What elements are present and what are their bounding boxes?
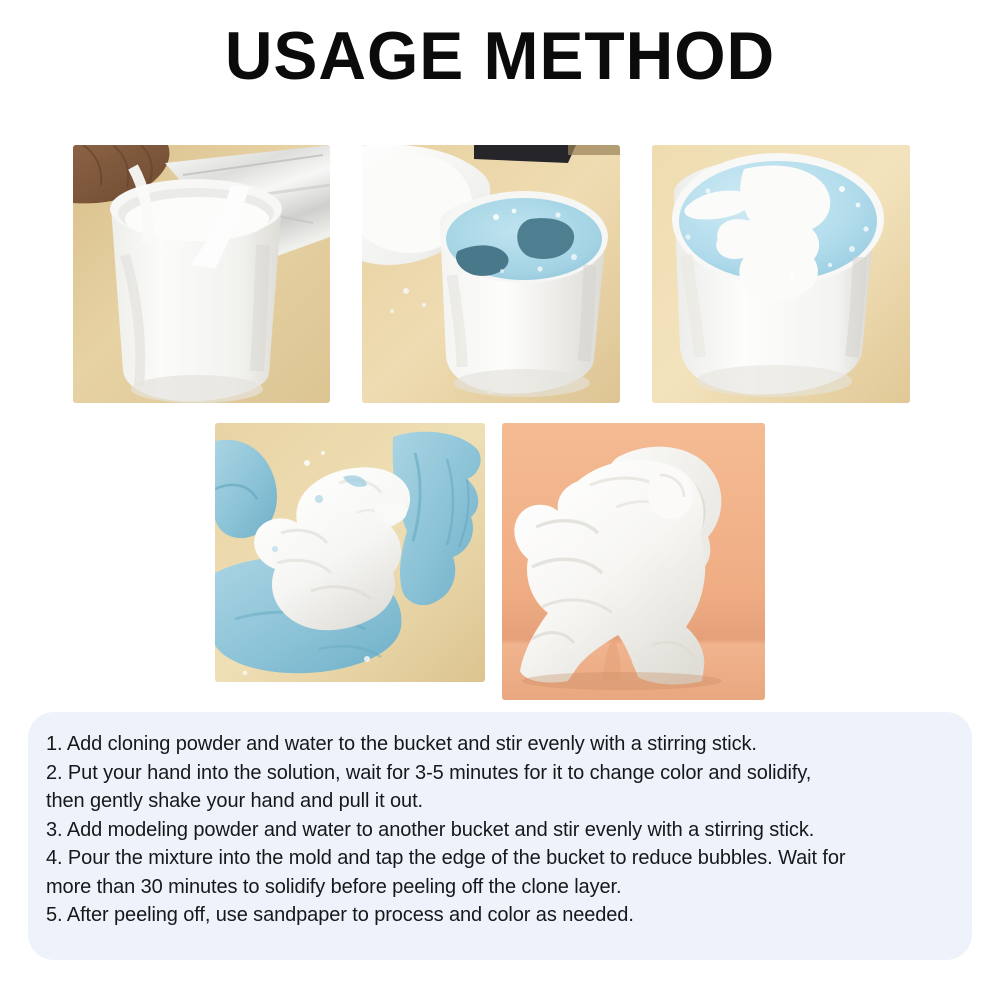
page-title: USAGE METHOD: [15, 22, 985, 90]
instruction-line-4: 4. Pour the mixture into the mold and ta…: [46, 844, 950, 873]
instruction-line-1: 1. Add cloning powder and water to the b…: [46, 730, 950, 759]
instruction-line-4-cont: more than 30 minutes to solidify before …: [46, 873, 950, 902]
step-photo-2: [362, 145, 620, 403]
instruction-line-5: 5. After peeling off, use sandpaper to p…: [46, 901, 950, 930]
step-photo-5-image: [502, 423, 765, 700]
step-photo-4: [215, 423, 485, 682]
usage-method-infographic: USAGE METHOD: [0, 0, 1000, 1000]
instruction-line-2: 2. Put your hand into the solution, wait…: [46, 759, 950, 788]
step-photo-2-image: [362, 145, 620, 403]
step-photo-1-image: [73, 145, 330, 403]
step-photo-1: [73, 145, 330, 403]
step-photo-3: [652, 145, 910, 403]
step-photo-4-image: [215, 423, 485, 682]
photo-row-1: [73, 145, 910, 403]
step-photo-3-image: [652, 145, 910, 403]
instruction-line-2-cont: then gently shake your hand and pull it …: [46, 787, 950, 816]
instruction-line-3: 3. Add modeling powder and water to anot…: [46, 816, 950, 845]
step-photo-5: [502, 423, 765, 700]
instructions-panel: 1. Add cloning powder and water to the b…: [28, 712, 972, 960]
photo-row-2: [215, 423, 765, 700]
